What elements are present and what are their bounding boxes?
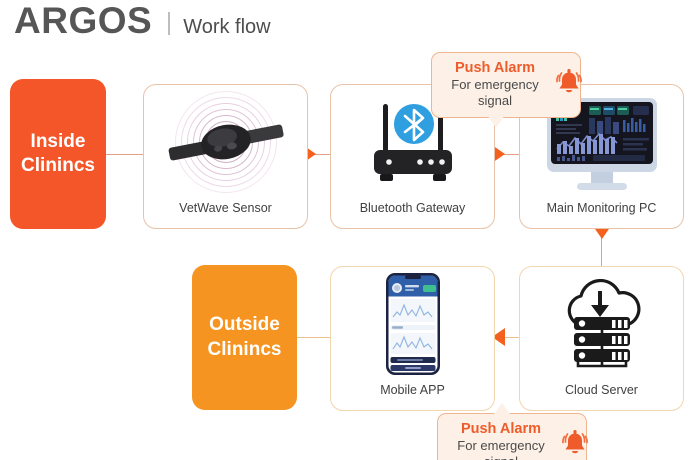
bell-icon [558,427,592,460]
zone-outside-label-line2: Clinincs [208,338,282,362]
node-card-mobile-app[interactable]: Mobile APP [330,266,495,411]
node-label-mobile-app: Mobile APP [331,383,494,397]
node-card-sensor[interactable]: VetWave Sensor [143,84,308,229]
sensor-artwork [144,85,307,198]
cloud-server-artwork [520,267,683,380]
bell-icon [552,66,586,103]
node-label-monitoring-pc: Main Monitoring PC [520,201,683,215]
push-alarm-subtitle-top: For emergency signal [444,77,546,110]
push-alarm-callout-top[interactable]: Push Alarm For emergency signal [431,52,581,118]
zone-inside-label-line1: Inside [31,130,86,154]
push-alarm-title-bottom: Push Alarm [450,420,552,438]
header-divider [168,12,170,35]
brand-title: ARGOS [14,2,152,39]
wearable-sensor-icon [167,92,285,192]
push-alarm-title-top: Push Alarm [444,59,546,77]
push-alarm-subtitle-bottom: For emergency signal [450,438,552,460]
mobile-app-artwork [331,267,494,380]
node-label-cloud-server: Cloud Server [520,383,683,397]
callout-tail-bottom [494,403,510,414]
page-subtitle: Work flow [183,17,270,37]
smartphone-icon [385,272,441,376]
zone-outside-label-line1: Outside [209,313,280,337]
zone-outside-clinics[interactable]: Outside Clinincs [192,265,297,410]
page-header: ARGOS Work flow [14,2,271,39]
zone-inside-label-line2: Clinincs [21,154,95,178]
zone-inside-clinics[interactable]: Inside Clinincs [10,79,106,229]
node-label-gateway: Bluetooth Gateway [331,201,494,215]
push-alarm-callout-bottom[interactable]: Push Alarm For emergency signal [437,413,587,460]
node-label-sensor: VetWave Sensor [144,201,307,215]
sensor-device-shape [164,113,288,171]
cloud-server-icon [556,279,648,369]
node-card-cloud-server[interactable]: Cloud Server [519,266,684,411]
workflow-diagram: ARGOS Work flow Inside Clinincs Outside … [0,0,690,460]
